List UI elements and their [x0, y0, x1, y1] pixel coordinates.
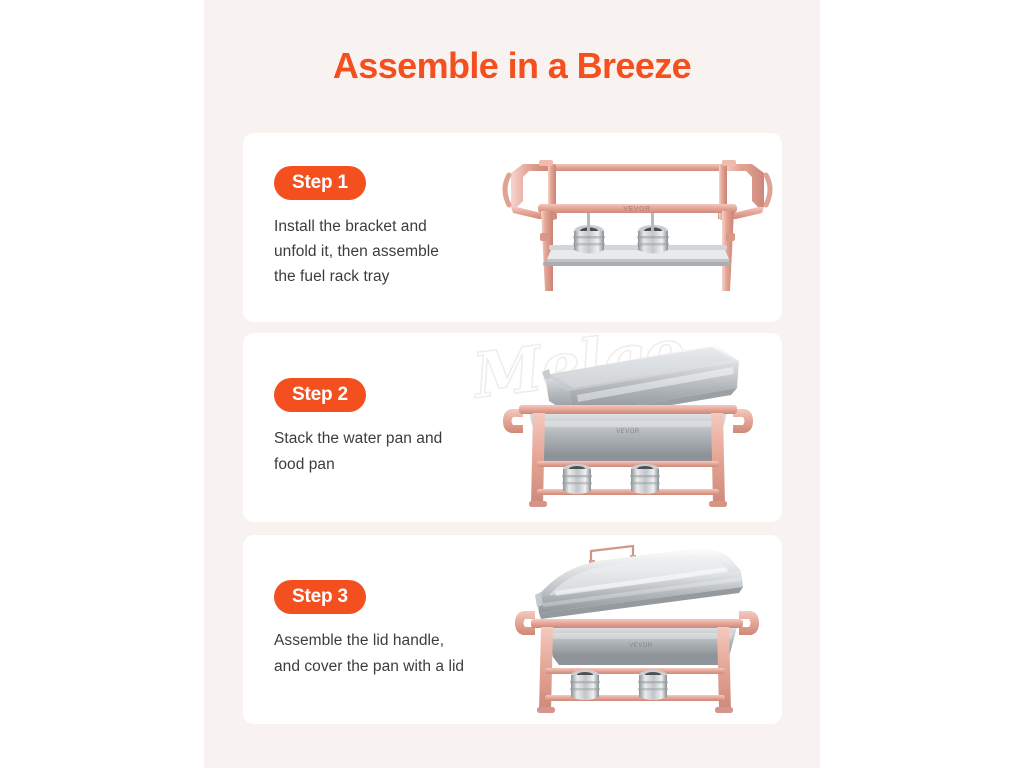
step-2-description: Stack the water pan and food pan: [274, 426, 493, 476]
step-2-text-block: Step 2 Stack the water pan and food pan: [243, 378, 493, 476]
page-title: Assemble in a Breeze: [204, 45, 820, 87]
step-2-badge: Step 2: [274, 378, 366, 412]
fuel-canister-left: [570, 670, 600, 700]
step-3-badge: Step 3: [274, 580, 366, 614]
step-card-1: Step 1 Install the bracket and unfold it…: [243, 133, 782, 322]
fuel-canister-left: [562, 464, 592, 494]
poster-canvas: Assemble in a Breeze Step 1 Install the …: [0, 0, 1024, 768]
brand-mark-vevor: VEVOR: [623, 206, 651, 213]
fuel-canister-right: [637, 213, 669, 254]
step-3-illustration: VEVOR: [493, 535, 782, 724]
step-card-2: Melgo Step 2 Stack the water pan and foo…: [243, 333, 782, 522]
fuel-canister-left: [573, 213, 605, 254]
step-3-text-block: Step 3 Assemble the lid handle, and cove…: [243, 580, 493, 678]
step-1-text-block: Step 1 Install the bracket and unfold it…: [243, 166, 493, 289]
step-1-illustration: VEVOR: [493, 133, 782, 322]
step-1-description: Install the bracket and unfold it, then …: [274, 214, 493, 289]
fuel-canister-right: [630, 464, 660, 494]
step-card-3: Step 3 Assemble the lid handle, and cove…: [243, 535, 782, 724]
step-2-illustration: VEVOR: [493, 333, 782, 522]
brand-mark-vevor: VEVOR: [629, 643, 653, 649]
step-1-badge: Step 1: [274, 166, 366, 200]
fuel-canister-right: [638, 670, 668, 700]
brand-mark-vevor: VEVOR: [616, 429, 640, 435]
lid-with-handle: [535, 546, 743, 619]
step-3-description: Assemble the lid handle, and cover the p…: [274, 628, 493, 678]
